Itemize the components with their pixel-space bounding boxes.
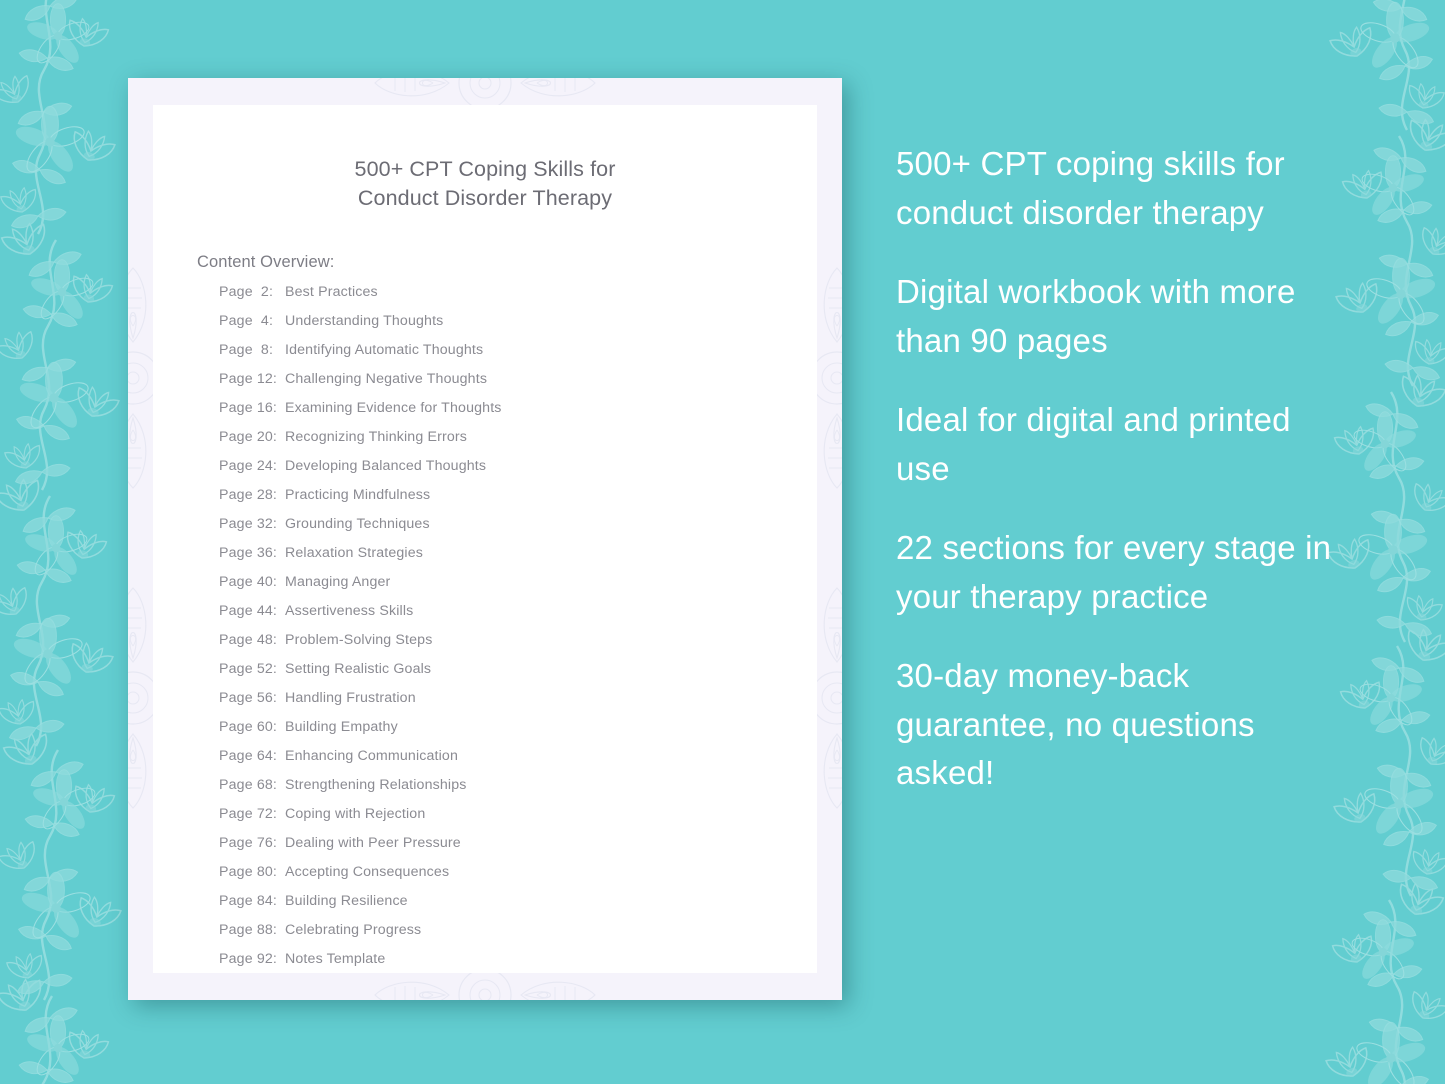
table-of-contents-row: Page 44:Assertiveness Skills xyxy=(219,603,817,632)
toc-section-title: Best Practices xyxy=(285,284,378,300)
page-title-line-1: 500+ CPT Coping Skills for xyxy=(199,155,771,184)
table-of-contents-row: Page 24:Developing Balanced Thoughts xyxy=(219,458,817,487)
toc-page-number: Page 80: xyxy=(219,864,285,880)
table-of-contents-row: Page 52:Setting Realistic Goals xyxy=(219,661,817,690)
document-page: 500+ CPT Coping Skills for Conduct Disor… xyxy=(153,105,817,973)
toc-section-title: Relaxation Strategies xyxy=(285,545,423,561)
table-of-contents: Page 2:Best PracticesPage 4:Understandin… xyxy=(219,284,817,980)
toc-section-title: Dealing with Peer Pressure xyxy=(285,835,461,851)
toc-section-title: Understanding Thoughts xyxy=(285,313,443,329)
table-of-contents-row: Page 32:Grounding Techniques xyxy=(219,516,817,545)
table-of-contents-row: Page 28:Practicing Mindfulness xyxy=(219,487,817,516)
toc-section-title: Setting Realistic Goals xyxy=(285,661,431,677)
table-of-contents-row: Page 56:Handling Frustration xyxy=(219,690,817,719)
toc-section-title: Problem-Solving Steps xyxy=(285,632,432,648)
toc-section-title: Challenging Negative Thoughts xyxy=(285,371,487,387)
promo-item: 22 sections for every stage in your ther… xyxy=(896,524,1336,621)
table-of-contents-row: Page 60:Building Empathy xyxy=(219,719,817,748)
table-of-contents-row: Page 92:Notes Template xyxy=(219,951,817,980)
toc-page-number: Page 88: xyxy=(219,922,285,938)
content-overview-label: Content Overview: xyxy=(197,253,817,272)
floral-vine-left-icon xyxy=(0,0,142,1084)
toc-page-number: Page 32: xyxy=(219,516,285,532)
toc-section-title: Developing Balanced Thoughts xyxy=(285,458,486,474)
toc-section-title: Accepting Consequences xyxy=(285,864,449,880)
toc-page-number: Page 64: xyxy=(219,748,285,764)
table-of-contents-row: Page 20:Recognizing Thinking Errors xyxy=(219,429,817,458)
toc-page-number: Page 2: xyxy=(219,284,285,300)
toc-page-number: Page 76: xyxy=(219,835,285,851)
table-of-contents-row: Page 76:Dealing with Peer Pressure xyxy=(219,835,817,864)
toc-page-number: Page 36: xyxy=(219,545,285,561)
table-of-contents-row: Page 80:Accepting Consequences xyxy=(219,864,817,893)
promo-item: 30-day money-back guarantee, no question… xyxy=(896,652,1336,798)
table-of-contents-row: Page 8:Identifying Automatic Thoughts xyxy=(219,342,817,371)
table-of-contents-row: Page 16:Examining Evidence for Thoughts xyxy=(219,400,817,429)
toc-page-number: Page 48: xyxy=(219,632,285,648)
toc-section-title: Practicing Mindfulness xyxy=(285,487,430,503)
page-title: 500+ CPT Coping Skills for Conduct Disor… xyxy=(153,155,817,213)
toc-page-number: Page 52: xyxy=(219,661,285,677)
toc-section-title: Handling Frustration xyxy=(285,690,416,706)
toc-page-number: Page 28: xyxy=(219,487,285,503)
table-of-contents-row: Page 2:Best Practices xyxy=(219,284,817,313)
document-card: 500+ CPT Coping Skills for Conduct Disor… xyxy=(128,78,842,1000)
toc-page-number: Page 16: xyxy=(219,400,285,416)
toc-section-title: Notes Template xyxy=(285,951,385,967)
toc-page-number: Page 72: xyxy=(219,806,285,822)
table-of-contents-row: Page 4:Understanding Thoughts xyxy=(219,313,817,342)
toc-page-number: Page 24: xyxy=(219,458,285,474)
page-title-line-2: Conduct Disorder Therapy xyxy=(199,184,771,213)
toc-section-title: Examining Evidence for Thoughts xyxy=(285,400,502,416)
toc-section-title: Recognizing Thinking Errors xyxy=(285,429,467,445)
promo-item: Digital workbook with more than 90 pages xyxy=(896,268,1336,365)
toc-page-number: Page 20: xyxy=(219,429,285,445)
toc-section-title: Building Resilience xyxy=(285,893,408,909)
toc-section-title: Assertiveness Skills xyxy=(285,603,413,619)
table-of-contents-row: Page 12:Challenging Negative Thoughts xyxy=(219,371,817,400)
toc-page-number: Page 68: xyxy=(219,777,285,793)
table-of-contents-row: Page 64:Enhancing Communication xyxy=(219,748,817,777)
table-of-contents-row: Page 68:Strengthening Relationships xyxy=(219,777,817,806)
table-of-contents-row: Page 84:Building Resilience xyxy=(219,893,817,922)
table-of-contents-row: Page 40:Managing Anger xyxy=(219,574,817,603)
toc-section-title: Coping with Rejection xyxy=(285,806,425,822)
toc-section-title: Enhancing Communication xyxy=(285,748,458,764)
toc-section-title: Grounding Techniques xyxy=(285,516,430,532)
toc-page-number: Page 56: xyxy=(219,690,285,706)
toc-page-number: Page 8: xyxy=(219,342,285,358)
table-of-contents-row: Page 72:Coping with Rejection xyxy=(219,806,817,835)
table-of-contents-row: Page 48:Problem-Solving Steps xyxy=(219,632,817,661)
toc-page-number: Page 44: xyxy=(219,603,285,619)
table-of-contents-row: Page 36:Relaxation Strategies xyxy=(219,545,817,574)
toc-section-title: Managing Anger xyxy=(285,574,390,590)
toc-page-number: Page 84: xyxy=(219,893,285,909)
toc-page-number: Page 92: xyxy=(219,951,285,967)
toc-page-number: Page 4: xyxy=(219,313,285,329)
toc-section-title: Building Empathy xyxy=(285,719,398,735)
promo-item: Ideal for digital and printed use xyxy=(896,396,1336,493)
promo-item: 500+ CPT coping skills for conduct disor… xyxy=(896,140,1336,237)
promo-list: 500+ CPT coping skills for conduct disor… xyxy=(896,140,1336,798)
toc-section-title: Strengthening Relationships xyxy=(285,777,467,793)
table-of-contents-row: Page 88:Celebrating Progress xyxy=(219,922,817,951)
toc-page-number: Page 40: xyxy=(219,574,285,590)
toc-section-title: Identifying Automatic Thoughts xyxy=(285,342,483,358)
toc-section-title: Celebrating Progress xyxy=(285,922,421,938)
toc-page-number: Page 60: xyxy=(219,719,285,735)
toc-page-number: Page 12: xyxy=(219,371,285,387)
